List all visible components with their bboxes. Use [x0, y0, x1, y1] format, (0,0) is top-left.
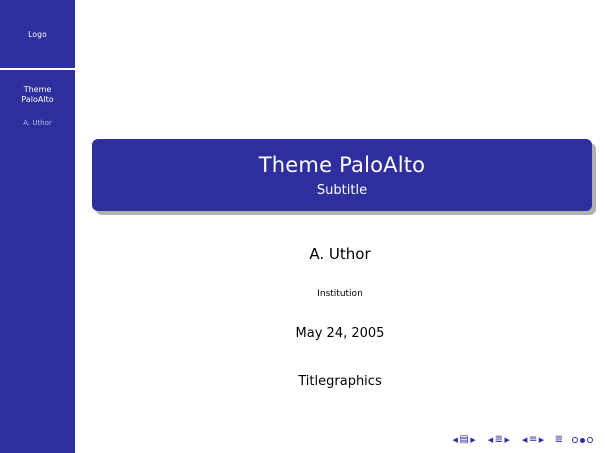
sidebar-presentation-title[interactable]: Theme PaloAlto — [0, 85, 75, 105]
sidebar-logo-label: Logo — [28, 30, 47, 39]
sidebar: Logo Theme PaloAlto A. Uthor — [0, 0, 75, 453]
back-dot-icon[interactable] — [572, 437, 578, 443]
current-dot-icon[interactable] — [580, 438, 585, 443]
navigation-bar: ◀ ▤ ▶ ◀ ≣ ▶ ◀ ≡ ▶ ≣ — [451, 435, 593, 445]
forward-dot-icon[interactable] — [587, 437, 593, 443]
nav-group-subsection: ◀ ≡ ▶ — [520, 435, 545, 445]
presentation-date: May 24, 2005 — [75, 326, 605, 341]
sidebar-divider — [0, 68, 75, 70]
subsection-icon[interactable]: ≡ — [529, 435, 537, 445]
slide-content: Theme PaloAlto Subtitle A. Uthor Institu… — [75, 0, 605, 453]
prev-subsection-icon[interactable]: ◀ — [522, 437, 527, 444]
presentation-slide: Logo Theme PaloAlto A. Uthor Theme PaloA… — [0, 0, 605, 453]
titlegraphic: Titlegraphics — [75, 374, 605, 389]
sidebar-title-line-2: PaloAlto — [0, 95, 75, 105]
doc-icon[interactable]: ▤ — [459, 435, 468, 445]
page-title: Theme PaloAlto — [259, 153, 425, 177]
nav-group-current: ≣ — [555, 435, 563, 445]
sidebar-logo: Logo — [0, 0, 75, 68]
section-icon[interactable]: ≣ — [495, 435, 503, 445]
prev-section-icon[interactable]: ◀ — [488, 437, 493, 444]
author-name: A. Uthor — [75, 245, 605, 263]
next-subsection-icon[interactable]: ▶ — [539, 437, 544, 444]
nav-group-section: ◀ ≣ ▶ — [486, 435, 511, 445]
title-block: Theme PaloAlto Subtitle — [92, 139, 592, 211]
current-frame-icon[interactable]: ≣ — [555, 435, 563, 445]
sidebar-title-line-1: Theme — [0, 85, 75, 95]
next-section-icon[interactable]: ▶ — [505, 437, 510, 444]
nav-group-dots — [572, 437, 593, 443]
sidebar-author: A. Uthor — [0, 119, 75, 127]
nav-group-frames: ◀ ▤ ▶ — [451, 435, 477, 445]
page-subtitle: Subtitle — [317, 183, 367, 198]
last-frame-icon[interactable]: ▶ — [470, 437, 475, 444]
first-frame-icon[interactable]: ◀ — [453, 437, 458, 444]
institution-name: Institution — [75, 289, 605, 299]
